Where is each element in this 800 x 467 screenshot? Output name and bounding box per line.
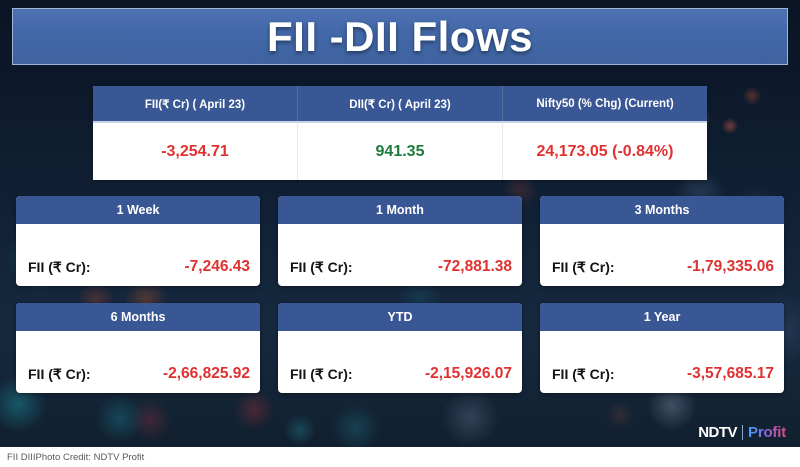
period-card-body: FII (₹ Cr): -7,246.43	[16, 224, 260, 286]
period-card-value: -3,57,685.17	[687, 365, 774, 383]
summary-column-header-fii: FII(₹ Cr) ( April 23)	[93, 86, 297, 121]
page-title: FII -DII Flows	[267, 13, 533, 61]
summary-table-header-row: FII(₹ Cr) ( April 23) DII(₹ Cr) ( April …	[93, 86, 707, 123]
period-card-ytd: YTD FII (₹ Cr): -2,15,926.07	[278, 303, 522, 393]
period-card-1-month: 1 Month FII (₹ Cr): -72,881.38	[278, 196, 522, 286]
photo-credit-caption: FII DIIIPhoto Credit: NDTV Profit	[0, 452, 144, 463]
period-card-title: YTD	[388, 310, 413, 324]
period-card-header: YTD	[278, 303, 522, 331]
period-card-title: 6 Months	[111, 310, 166, 324]
period-card-label: FII (₹ Cr):	[28, 366, 91, 383]
period-card-label: FII (₹ Cr):	[552, 366, 615, 383]
logo-profit-text: Profit	[748, 424, 786, 441]
period-card-label: FII (₹ Cr):	[290, 366, 353, 383]
period-card-6-months: 6 Months FII (₹ Cr): -2,66,825.92	[16, 303, 260, 393]
period-card-body: FII (₹ Cr): -1,79,335.06	[540, 224, 784, 286]
period-card-value: -1,79,335.06	[687, 258, 774, 276]
period-card-grid: 1 Week FII (₹ Cr): -7,246.43 1 Month FII…	[16, 196, 784, 393]
summary-table-value-row: -3,254.71 941.35 24,173.05 (-0.84%)	[93, 123, 707, 180]
period-card-header: 1 Year	[540, 303, 784, 331]
period-card-value: -2,66,825.92	[163, 365, 250, 383]
period-card-title: 1 Year	[644, 310, 681, 324]
period-card-header: 1 Week	[16, 196, 260, 224]
summary-column-header-nifty50: Nifty50 (% Chg) (Current)	[502, 86, 707, 121]
period-card-body: FII (₹ Cr): -2,66,825.92	[16, 331, 260, 393]
period-card-1-year: 1 Year FII (₹ Cr): -3,57,685.17	[540, 303, 784, 393]
fii-dii-flows-infographic: FII -DII Flows FII(₹ Cr) ( April 23) DII…	[0, 0, 800, 467]
period-card-3-months: 3 Months FII (₹ Cr): -1,79,335.06	[540, 196, 784, 286]
period-card-value: -72,881.38	[438, 258, 512, 276]
period-card-label: FII (₹ Cr):	[552, 259, 615, 276]
period-card-label: FII (₹ Cr):	[290, 259, 353, 276]
period-card-body: FII (₹ Cr): -2,15,926.07	[278, 331, 522, 393]
caption-bar: FII DIIIPhoto Credit: NDTV Profit	[0, 447, 800, 467]
period-card-body: FII (₹ Cr): -3,57,685.17	[540, 331, 784, 393]
period-card-title: 1 Month	[376, 203, 424, 217]
period-card-header: 1 Month	[278, 196, 522, 224]
period-card-value: -2,15,926.07	[425, 365, 512, 383]
period-card-header: 3 Months	[540, 196, 784, 224]
title-banner: FII -DII Flows	[12, 8, 788, 65]
summary-column-header-dii: DII(₹ Cr) ( April 23)	[297, 86, 502, 121]
summary-value-nifty50: 24,173.05 (-0.84%)	[502, 123, 707, 180]
period-card-header: 6 Months	[16, 303, 260, 331]
ndtv-profit-logo: NDTV Profit	[698, 424, 786, 441]
period-card-label: FII (₹ Cr):	[28, 259, 91, 276]
period-card-value: -7,246.43	[185, 258, 251, 276]
summary-value-fii: -3,254.71	[93, 123, 297, 180]
logo-ndtv-text: NDTV	[698, 424, 737, 441]
period-card-title: 1 Week	[117, 203, 160, 217]
period-card-title: 3 Months	[635, 203, 690, 217]
period-card-1-week: 1 Week FII (₹ Cr): -7,246.43	[16, 196, 260, 286]
summary-value-dii: 941.35	[297, 123, 502, 180]
logo-divider	[742, 425, 743, 440]
period-card-body: FII (₹ Cr): -72,881.38	[278, 224, 522, 286]
summary-table: FII(₹ Cr) ( April 23) DII(₹ Cr) ( April …	[93, 86, 707, 180]
